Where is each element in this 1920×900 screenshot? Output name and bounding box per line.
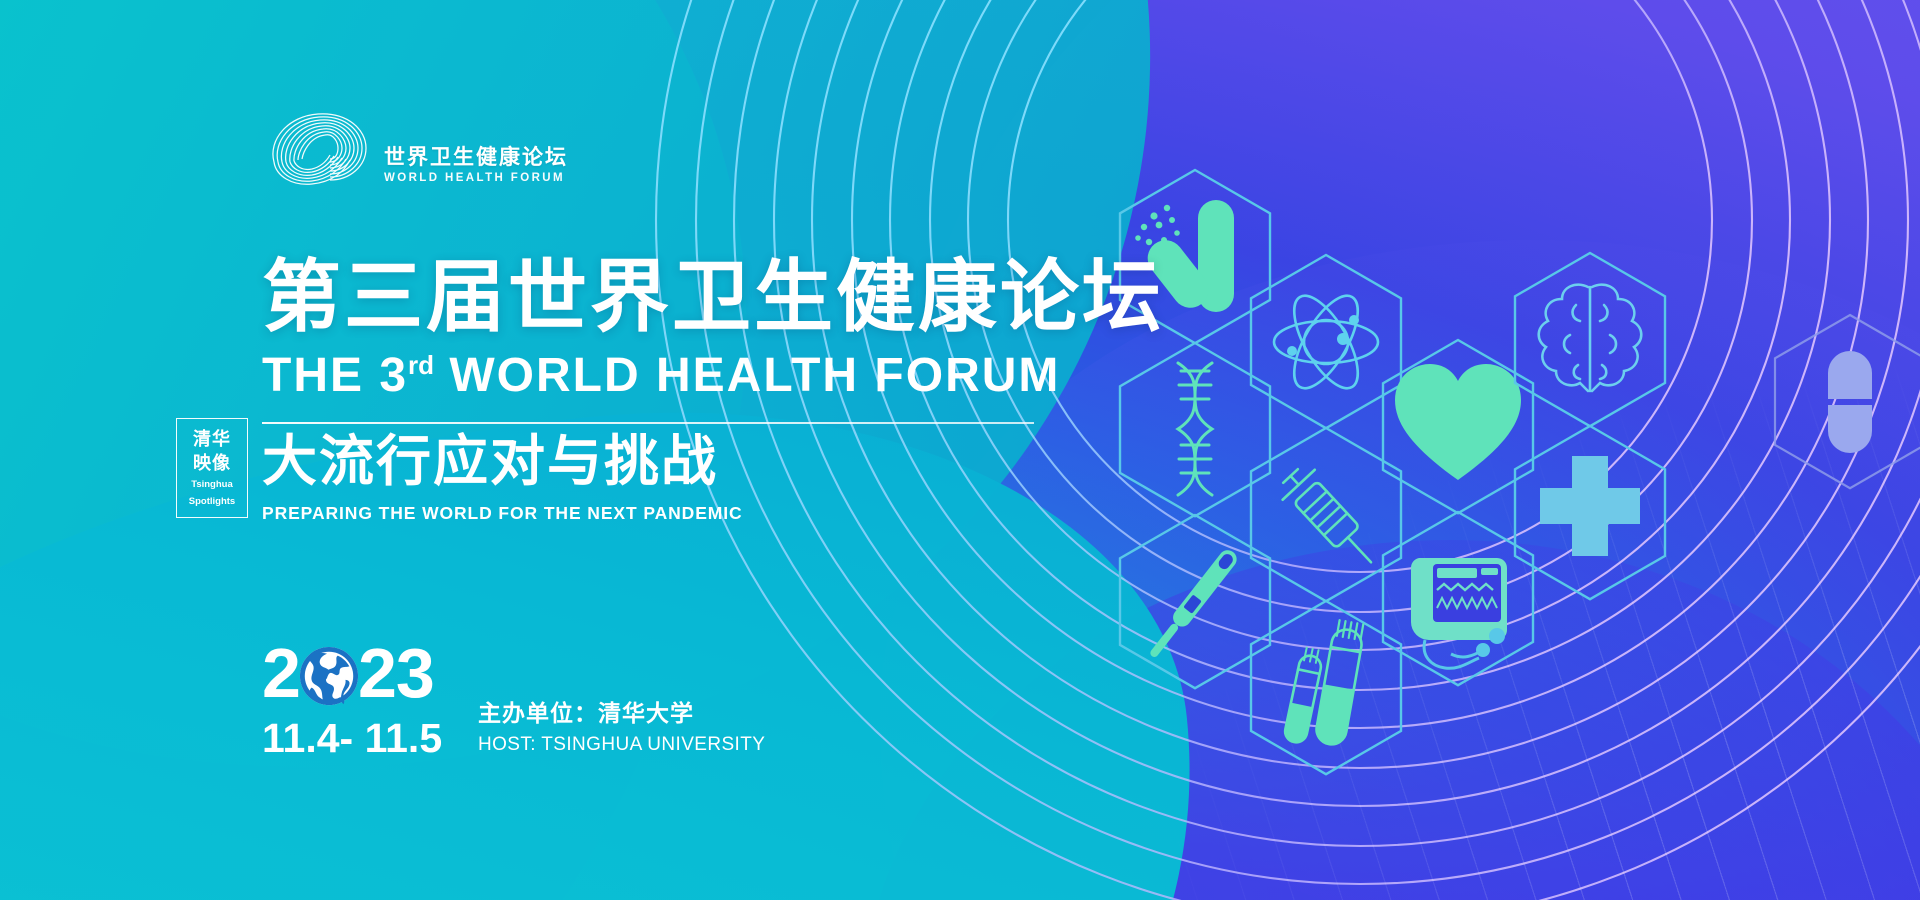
hex-dna [1120,343,1270,516]
globe-icon [298,645,360,707]
host-en: HOST: TSINGHUA UNIVERSITY [478,733,765,758]
page-title-cn: 第三届世界卫生健康论坛 [262,258,1164,337]
theme-title-en: PREPARING THE WORLD FOR THE NEXT PANDEMI… [262,505,743,523]
test-tubes-icon [1283,619,1365,746]
heart-icon [1395,364,1521,480]
event-banner: 世界卫生健康论坛 WORLD HEALTH FORUM 第三届世界卫生健康论坛 … [0,0,1920,900]
hex-brain [1515,253,1665,426]
hex-syringe [1251,428,1401,601]
event-date-range: 11.4- 11.5 [262,718,442,759]
host-block: 主办单位：清华大学 HOST: TSINGHUA UNIVERSITY [478,700,765,757]
event-year: 2 23 [262,638,434,708]
atom-icon [1274,286,1378,397]
ecg-monitor-icon [1411,558,1507,668]
brain-icon [1539,285,1642,391]
hex-ecg-monitor [1383,512,1533,685]
badge-en-line1: Tsinghua [191,479,233,491]
tsinghua-spotlights-badge: 清华 映像 Tsinghua Spotlights [176,418,248,518]
hex-thermometer [1120,515,1270,688]
host-cn: 主办单位：清华大学 [478,700,765,729]
hex-atom [1251,255,1401,428]
forum-logo: 世界卫生健康论坛 WORLD HEALTH FORUM [262,100,568,192]
page-title-en: THE 3rd WORLD HEALTH FORUM [262,352,1060,400]
title-divider [262,422,1034,424]
title-en-ordinal: rd [408,350,434,380]
medical-cross-icon [1540,456,1640,556]
forum-swirl-logo-icon [262,100,374,192]
year-digits-rest: 23 [358,638,434,708]
forum-logo-text-en: WORLD HEALTH FORUM [384,172,568,184]
dna-helix-icon [1178,363,1212,495]
badge-cn-line1: 清华 [193,429,231,450]
title-en-suffix: WORLD HEALTH FORUM [434,349,1060,402]
hex-test-tubes [1251,601,1401,774]
medical-hexagon-cluster [1120,150,1920,800]
badge-cn-line2: 映像 [193,453,231,474]
year-digit-first: 2 [262,638,300,708]
theme-title-cn: 大流行应对与挑战 [262,434,718,489]
capsule-vertical-icon [1828,351,1872,453]
hex-heart [1383,340,1533,513]
title-en-prefix: THE 3 [262,349,408,402]
badge-en-line2: Spotlights [189,496,235,508]
thermometer-icon [1145,547,1240,662]
hex-medical-cross [1515,426,1665,599]
banner-content: 世界卫生健康论坛 WORLD HEALTH FORUM 第三届世界卫生健康论坛 … [0,0,1100,900]
forum-logo-text-cn: 世界卫生健康论坛 [384,146,568,169]
syringe-icon [1274,461,1387,577]
hex-capsule-vertical [1775,315,1920,488]
forum-logo-text: 世界卫生健康论坛 WORLD HEALTH FORUM [384,146,568,192]
